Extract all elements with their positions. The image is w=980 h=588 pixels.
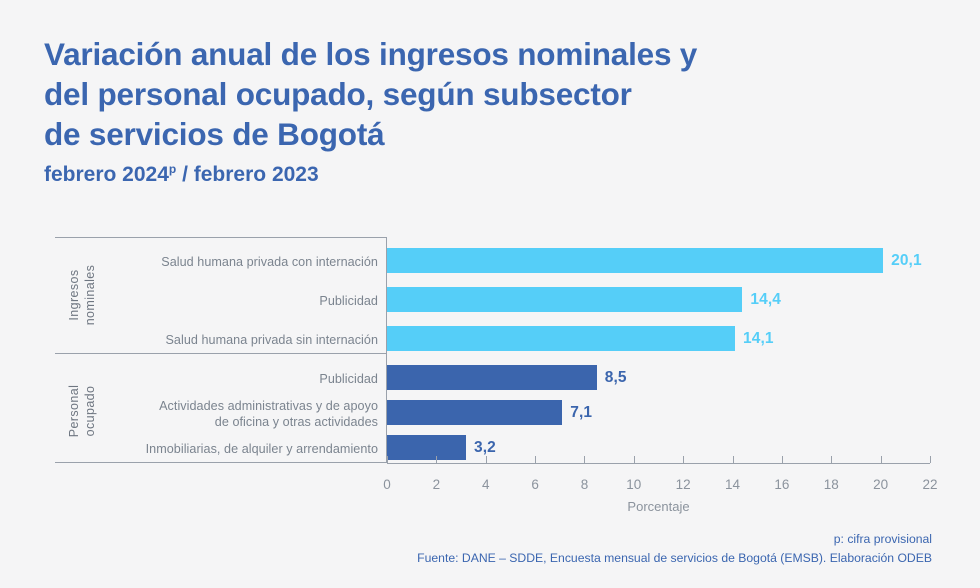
bar-value-label: 8,5 bbox=[605, 365, 627, 390]
x-axis-tick bbox=[831, 456, 832, 463]
subtitle-period-current: febrero 2024 bbox=[44, 163, 169, 186]
x-axis-tick-label: 2 bbox=[433, 477, 441, 492]
x-axis-tick-label: 18 bbox=[824, 477, 839, 492]
bar-row: 14,4 bbox=[387, 285, 930, 315]
chart-header: Variación anual de los ingresos nominale… bbox=[44, 34, 864, 186]
bar-value-label: 14,4 bbox=[750, 287, 781, 312]
x-axis-tick-label: 20 bbox=[873, 477, 888, 492]
x-axis-tick-label: 8 bbox=[581, 477, 589, 492]
category-label: Actividades administrativas y de apoyo d… bbox=[108, 399, 378, 429]
category-label: Publicidad bbox=[108, 286, 378, 316]
bar bbox=[387, 248, 883, 273]
x-axis-tick bbox=[634, 456, 635, 463]
bar bbox=[387, 400, 562, 425]
bar-value-label: 14,1 bbox=[743, 326, 774, 351]
bar-value-label: 20,1 bbox=[891, 248, 922, 273]
x-axis-tick-label: 6 bbox=[531, 477, 539, 492]
bar-row: 7,1 bbox=[387, 398, 930, 428]
x-axis-tick bbox=[486, 456, 487, 463]
x-axis-tick bbox=[387, 456, 388, 463]
category-label: Salud humana privada sin internación bbox=[108, 325, 378, 355]
subtitle-period-previous: / febrero 2023 bbox=[176, 163, 318, 186]
x-axis-tick bbox=[733, 456, 734, 463]
x-axis-tick bbox=[881, 456, 882, 463]
x-axis-tick bbox=[584, 456, 585, 463]
chart-subtitle: febrero 2024p / febrero 2023 bbox=[44, 163, 864, 186]
chart-plot-area: Salud humana privada con internaciónPubl… bbox=[55, 237, 930, 463]
group-title-ingresos-nominales: Ingresos nominales bbox=[55, 237, 111, 353]
x-axis-tick bbox=[930, 456, 931, 463]
chart-footer: p: cifra provisional Fuente: DANE – SDDE… bbox=[417, 530, 932, 568]
x-axis-tick-label: 14 bbox=[725, 477, 740, 492]
category-label: Salud humana privada con internación bbox=[108, 247, 378, 277]
bar-row: 3,2 bbox=[387, 433, 930, 463]
bar bbox=[387, 435, 466, 460]
bar-row: 20,1 bbox=[387, 246, 930, 276]
x-axis-tick-label: 22 bbox=[922, 477, 937, 492]
x-axis-tick bbox=[683, 456, 684, 463]
category-label: Inmobiliarias, de alquiler y arrendamien… bbox=[108, 434, 378, 464]
x-axis-tick-label: 16 bbox=[774, 477, 789, 492]
x-axis-tick-label: 4 bbox=[482, 477, 490, 492]
x-axis-tick-label: 0 bbox=[383, 477, 391, 492]
x-axis-line bbox=[387, 463, 930, 464]
x-axis-tick bbox=[535, 456, 536, 463]
x-axis-tick bbox=[436, 456, 437, 463]
bar-value-label: 7,1 bbox=[570, 400, 592, 425]
bar bbox=[387, 326, 735, 351]
group-title-personal-ocupado: Personal ocupado bbox=[55, 353, 111, 469]
category-label: Publicidad bbox=[108, 364, 378, 394]
x-axis-tick-label: 12 bbox=[676, 477, 691, 492]
bar-row: 14,1 bbox=[387, 324, 930, 354]
bar bbox=[387, 287, 742, 312]
bars-region: 20,114,414,18,57,13,2 bbox=[387, 237, 930, 463]
footnote-source: Fuente: DANE – SDDE, Encuesta mensual de… bbox=[417, 549, 932, 568]
x-axis-tick-label: 10 bbox=[626, 477, 641, 492]
footnote-provisional: p: cifra provisional bbox=[417, 530, 932, 549]
x-axis-tick bbox=[782, 456, 783, 463]
bar bbox=[387, 365, 597, 390]
bar-row: 8,5 bbox=[387, 363, 930, 393]
page-title: Variación anual de los ingresos nominale… bbox=[44, 34, 864, 154]
x-axis-title: Porcentaje bbox=[627, 499, 689, 514]
